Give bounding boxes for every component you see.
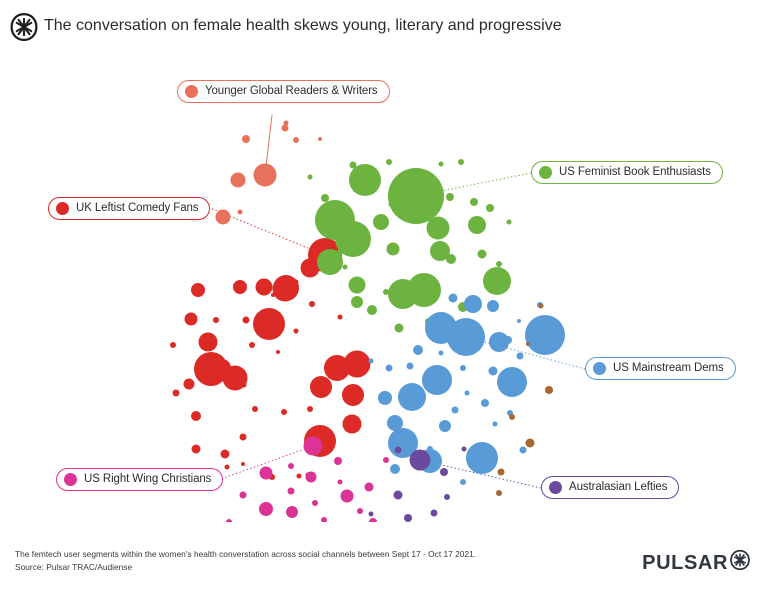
- header: The conversation on female health skews …: [0, 0, 768, 52]
- bubble[interactable]: [284, 121, 289, 126]
- bubble-series: [369, 294, 566, 486]
- bubble[interactable]: [539, 304, 544, 309]
- bubble[interactable]: [466, 442, 498, 474]
- bubble-series: [369, 447, 467, 523]
- bubble[interactable]: [341, 490, 354, 503]
- bubble[interactable]: [288, 463, 294, 469]
- footnote-line-1: The femtech user segments within the wom…: [15, 548, 476, 561]
- bubble[interactable]: [481, 399, 489, 407]
- bubble[interactable]: [439, 420, 451, 432]
- pulsar-wordmark: PULSAR: [642, 552, 728, 575]
- bubble[interactable]: [199, 333, 218, 352]
- bubble[interactable]: [517, 319, 521, 323]
- bubble[interactable]: [233, 280, 247, 294]
- bubble[interactable]: [407, 273, 441, 307]
- bubble[interactable]: [386, 159, 392, 165]
- bubble[interactable]: [478, 250, 487, 259]
- bubble-series: [308, 159, 512, 336]
- bubble[interactable]: [294, 280, 299, 285]
- bubble[interactable]: [365, 483, 374, 492]
- bubble[interactable]: [462, 447, 467, 452]
- bubble[interactable]: [470, 198, 478, 206]
- bubble[interactable]: [496, 261, 502, 267]
- bubble[interactable]: [498, 469, 505, 476]
- bubble[interactable]: [389, 201, 396, 208]
- legend-dot-icon: [593, 362, 606, 375]
- bubble[interactable]: [318, 137, 322, 141]
- callout-us-feminist-book-enthusiasts[interactable]: US Feminist Book Enthusiasts: [531, 161, 723, 184]
- bubble[interactable]: [465, 391, 470, 396]
- bubble[interactable]: [446, 254, 456, 264]
- bubble[interactable]: [301, 259, 320, 278]
- bubble[interactable]: [213, 317, 219, 323]
- bubble[interactable]: [507, 220, 512, 225]
- bubble[interactable]: [242, 135, 250, 143]
- bubble[interactable]: [496, 490, 502, 496]
- bubble[interactable]: [282, 125, 289, 132]
- bubble[interactable]: [350, 162, 357, 169]
- bubble[interactable]: [286, 506, 298, 518]
- legend-dot-icon: [539, 166, 552, 179]
- bubble[interactable]: [321, 194, 329, 202]
- bubble[interactable]: [520, 447, 527, 454]
- bubble[interactable]: [526, 439, 535, 448]
- bubble[interactable]: [373, 214, 389, 230]
- bubble[interactable]: [213, 359, 231, 377]
- bubble[interactable]: [407, 363, 414, 370]
- bubble[interactable]: [483, 267, 511, 295]
- bubble[interactable]: [310, 376, 332, 398]
- bubble[interactable]: [367, 305, 377, 315]
- bubble[interactable]: [378, 391, 392, 405]
- bubble[interactable]: [252, 406, 258, 412]
- legend-dot-icon: [185, 85, 198, 98]
- bubble[interactable]: [526, 342, 530, 346]
- bubble[interactable]: [297, 474, 302, 479]
- bubble[interactable]: [337, 249, 343, 255]
- callout-australasian-lefties[interactable]: Australasian Lefties: [541, 476, 679, 499]
- bubble[interactable]: [439, 351, 444, 356]
- bubble[interactable]: [334, 457, 342, 465]
- callout-us-right-wing-christians[interactable]: US Right Wing Christians: [56, 468, 223, 491]
- bubble[interactable]: [493, 422, 498, 427]
- bubble[interactable]: [404, 514, 412, 522]
- bubble[interactable]: [427, 446, 433, 452]
- callout-label: Younger Global Readers & Writers: [205, 86, 378, 98]
- bubble[interactable]: [402, 172, 436, 206]
- bubble[interactable]: [306, 472, 317, 483]
- bubble[interactable]: [413, 345, 423, 355]
- callout-uk-leftist-comedy-fans[interactable]: UK Leftist Comedy Fans: [48, 197, 210, 220]
- bubble[interactable]: [395, 324, 404, 333]
- bubble[interactable]: [225, 465, 230, 470]
- bubble[interactable]: [243, 317, 250, 324]
- bubble[interactable]: [427, 217, 450, 240]
- bubble[interactable]: [308, 175, 313, 180]
- bubble[interactable]: [449, 294, 458, 303]
- bubble[interactable]: [509, 414, 515, 420]
- bubble[interactable]: [545, 386, 553, 394]
- bubble[interactable]: [192, 445, 201, 454]
- bubble[interactable]: [349, 164, 381, 196]
- bubble[interactable]: [439, 162, 444, 167]
- bubble[interactable]: [349, 277, 366, 294]
- bubble-plot-area: [0, 52, 768, 522]
- bubble[interactable]: [338, 480, 343, 485]
- bubble[interactable]: [191, 283, 205, 297]
- legend-dot-icon: [549, 481, 562, 494]
- bubble[interactable]: [487, 300, 499, 312]
- bubble[interactable]: [273, 277, 298, 302]
- bubble[interactable]: [241, 462, 245, 466]
- bubble[interactable]: [486, 204, 494, 212]
- bubble[interactable]: [344, 351, 371, 378]
- bubble-cluster-chart: Younger Global Readers & WritersUK Lefti…: [0, 52, 768, 522]
- bubble[interactable]: [351, 296, 363, 308]
- callout-label: US Feminist Book Enthusiasts: [559, 167, 711, 179]
- bubble[interactable]: [387, 243, 400, 256]
- bubble[interactable]: [216, 210, 231, 225]
- bubble[interactable]: [191, 411, 201, 421]
- bubble-series: [200, 85, 323, 225]
- callout-label: Australasian Lefties: [569, 482, 667, 494]
- bubble[interactable]: [307, 406, 313, 412]
- bubble[interactable]: [240, 492, 247, 499]
- legend-dot-icon: [56, 202, 69, 215]
- bubble[interactable]: [357, 508, 363, 514]
- legend-dot-icon: [64, 473, 77, 486]
- bubble[interactable]: [312, 500, 318, 506]
- bubble[interactable]: [452, 407, 459, 414]
- bubble[interactable]: [525, 315, 565, 355]
- bubble[interactable]: [395, 447, 402, 454]
- callout-label: US Mainstream Dems: [613, 363, 724, 375]
- bubble[interactable]: [369, 512, 374, 517]
- bubble[interactable]: [253, 308, 285, 340]
- bubble[interactable]: [386, 365, 393, 372]
- bubble[interactable]: [254, 164, 277, 187]
- page-title: The conversation on female health skews …: [44, 17, 562, 35]
- bubble[interactable]: [342, 384, 364, 406]
- bubble[interactable]: [458, 159, 464, 165]
- bubble[interactable]: [170, 342, 176, 348]
- bubble[interactable]: [343, 415, 362, 434]
- bubble[interactable]: [468, 216, 486, 234]
- bubble[interactable]: [390, 464, 400, 474]
- bubble[interactable]: [460, 479, 466, 485]
- bubble[interactable]: [231, 173, 246, 188]
- bubble[interactable]: [464, 295, 482, 313]
- callout-younger-global-readers-writers[interactable]: Younger Global Readers & Writers: [177, 80, 390, 103]
- bubble[interactable]: [242, 383, 247, 388]
- bubble[interactable]: [422, 365, 452, 395]
- bubble[interactable]: [425, 312, 457, 344]
- bubble[interactable]: [489, 367, 498, 376]
- footnote-line-2: Source: Pulsar TRAC/Audiense: [15, 561, 476, 574]
- bubble[interactable]: [369, 359, 374, 364]
- bubble[interactable]: [221, 450, 230, 459]
- bubble[interactable]: [256, 279, 273, 296]
- asterisk-in-circle-icon: [9, 12, 39, 42]
- bubble[interactable]: [294, 329, 299, 334]
- bubble[interactable]: [446, 193, 454, 201]
- asterisk-in-circle-icon: [729, 549, 751, 571]
- bubble[interactable]: [387, 415, 403, 431]
- bubble[interactable]: [304, 437, 323, 456]
- bubble[interactable]: [276, 350, 280, 354]
- bubble[interactable]: [444, 494, 450, 500]
- bubble[interactable]: [398, 383, 426, 411]
- bubble[interactable]: [309, 301, 315, 307]
- bubble[interactable]: [463, 321, 481, 339]
- bubble[interactable]: [293, 137, 299, 143]
- bubble[interactable]: [185, 313, 198, 326]
- bubble[interactable]: [238, 210, 243, 215]
- pulsar-logo: PULSAR: [642, 549, 751, 578]
- bubble[interactable]: [184, 379, 195, 390]
- bubble[interactable]: [504, 336, 512, 344]
- bubble[interactable]: [249, 342, 255, 348]
- bubble[interactable]: [259, 502, 273, 516]
- bubble[interactable]: [410, 450, 431, 471]
- bubble[interactable]: [517, 353, 524, 360]
- bubble-series: [226, 437, 389, 523]
- bubble-series: [170, 238, 371, 480]
- bubble[interactable]: [260, 467, 273, 480]
- callout-label: UK Leftist Comedy Fans: [76, 203, 198, 215]
- bubble[interactable]: [338, 315, 343, 320]
- bubble[interactable]: [383, 457, 389, 463]
- bubble[interactable]: [271, 293, 275, 297]
- footer: The femtech user segments within the wom…: [0, 522, 768, 598]
- bubble[interactable]: [440, 468, 448, 476]
- bubble[interactable]: [173, 390, 180, 397]
- bubble[interactable]: [288, 488, 295, 495]
- bubble[interactable]: [383, 289, 389, 295]
- callout-us-mainstream-dems[interactable]: US Mainstream Dems: [585, 357, 736, 380]
- bubble[interactable]: [394, 491, 403, 500]
- bubble[interactable]: [460, 365, 466, 371]
- bubble[interactable]: [343, 265, 348, 270]
- bubble[interactable]: [431, 510, 438, 517]
- callout-label: US Right Wing Christians: [84, 474, 211, 486]
- bubble[interactable]: [240, 434, 247, 441]
- footnote: The femtech user segments within the wom…: [15, 548, 476, 573]
- bubble[interactable]: [281, 409, 287, 415]
- bubble[interactable]: [497, 367, 527, 397]
